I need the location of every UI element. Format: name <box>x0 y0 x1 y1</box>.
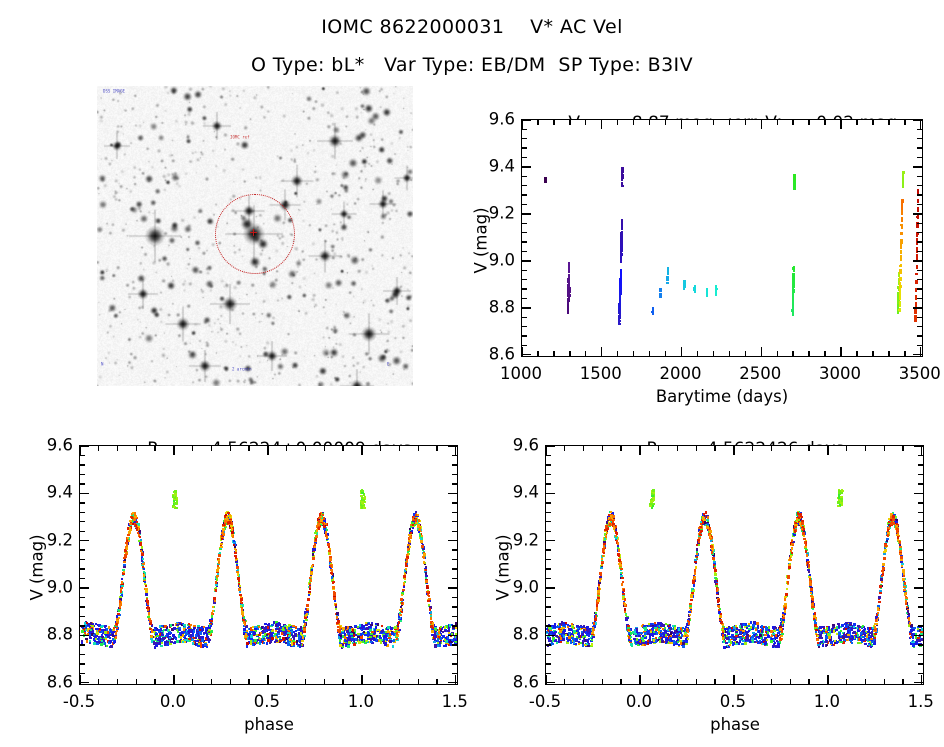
data-point <box>706 291 708 293</box>
data-point <box>182 641 184 643</box>
y-tick-right <box>452 502 457 503</box>
data-point <box>197 628 199 630</box>
data-point <box>179 632 181 634</box>
data-point <box>155 627 157 629</box>
data-point <box>546 631 548 633</box>
data-point <box>715 285 717 287</box>
x-tick-top <box>856 120 857 125</box>
data-point <box>336 622 338 624</box>
data-point <box>157 639 159 641</box>
data-point <box>750 621 752 623</box>
finder-annotation: DSS IMAGE <box>103 90 125 95</box>
x-tick-top <box>79 446 80 455</box>
data-point <box>439 634 441 636</box>
data-point <box>205 630 207 632</box>
x-tick-top <box>777 120 778 125</box>
y-tick-right <box>452 568 457 569</box>
data-point <box>430 617 432 619</box>
finder-annotation: N <box>101 363 103 368</box>
data-point <box>133 519 135 521</box>
data-point <box>231 528 233 530</box>
y-tick <box>522 260 531 261</box>
data-point <box>309 583 311 585</box>
phase-omc-xaxis-label: phase <box>244 715 294 734</box>
y-tick <box>522 213 531 214</box>
data-point <box>101 636 103 638</box>
target-crosshair-v <box>253 229 254 236</box>
x-tick <box>777 351 778 356</box>
data-point <box>120 590 122 592</box>
data-point <box>595 612 597 614</box>
data-point <box>900 239 902 241</box>
data-point <box>123 561 125 563</box>
data-point <box>207 638 209 640</box>
y-tick <box>522 223 527 224</box>
data-point <box>621 171 623 173</box>
x-axis-tick-label: 2000 <box>660 364 702 383</box>
data-point <box>387 630 389 632</box>
data-point <box>715 288 717 290</box>
y-tick <box>80 531 85 532</box>
x-tick <box>665 351 666 356</box>
data-point <box>170 624 172 626</box>
data-point <box>100 643 102 645</box>
data-point <box>406 560 408 562</box>
data-point <box>81 640 83 642</box>
data-point <box>638 635 640 637</box>
data-point <box>290 626 292 628</box>
y-tick <box>522 307 531 308</box>
data-point <box>221 535 223 537</box>
data-point <box>182 634 184 636</box>
data-point <box>427 600 429 602</box>
data-point <box>861 626 863 628</box>
data-point <box>147 603 149 605</box>
data-point <box>901 207 903 209</box>
data-point <box>365 640 367 642</box>
data-point <box>141 553 143 555</box>
data-point <box>714 573 716 575</box>
data-point <box>155 632 157 634</box>
phase-omc-yaxis-label: V (mag) <box>28 508 47 628</box>
y-tick-right <box>452 531 457 532</box>
data-point <box>445 644 447 646</box>
data-point <box>348 638 350 640</box>
data-point <box>917 210 919 212</box>
data-point <box>129 523 131 525</box>
y-tick <box>80 654 85 655</box>
data-point <box>793 184 795 186</box>
data-point <box>578 635 580 637</box>
data-point <box>106 645 108 647</box>
data-point <box>917 628 919 630</box>
data-point <box>271 637 273 639</box>
data-point <box>568 288 570 290</box>
data-point <box>147 606 149 608</box>
data-point <box>899 278 901 280</box>
data-point <box>396 634 398 636</box>
data-point <box>336 612 338 614</box>
data-point <box>292 640 294 642</box>
data-point <box>867 628 869 630</box>
data-point <box>215 581 217 583</box>
data-point <box>192 634 194 636</box>
data-point <box>620 256 622 258</box>
data-point <box>618 312 620 314</box>
data-point <box>357 636 359 638</box>
data-point <box>304 623 306 625</box>
data-point <box>449 624 451 626</box>
data-point <box>142 563 144 565</box>
data-point <box>361 501 363 503</box>
data-point <box>113 627 115 629</box>
y-tick <box>80 549 85 550</box>
data-point <box>793 275 795 277</box>
y-axis-tick-label: 8.6 <box>469 344 515 363</box>
data-point <box>399 609 401 611</box>
data-point <box>673 641 675 643</box>
data-point <box>314 543 316 545</box>
y-tick <box>522 279 527 280</box>
x-tick <box>380 679 381 684</box>
x-tick <box>537 351 538 356</box>
data-point <box>625 617 627 619</box>
data-point <box>109 640 111 642</box>
data-point <box>793 267 795 269</box>
y-tick <box>522 317 527 318</box>
data-point <box>296 640 298 642</box>
data-point <box>99 631 101 633</box>
y-tick <box>522 166 531 167</box>
data-point <box>361 639 363 641</box>
data-point <box>387 626 389 628</box>
data-point <box>567 626 569 628</box>
data-point <box>224 520 226 522</box>
data-point <box>272 629 274 631</box>
y-tick-right <box>913 354 922 355</box>
data-point <box>119 596 121 598</box>
y-tick <box>80 635 89 636</box>
x-tick <box>173 675 174 684</box>
data-point <box>917 207 919 209</box>
x-tick <box>617 351 618 356</box>
data-point <box>400 606 402 608</box>
data-point <box>216 578 218 580</box>
y-tick <box>80 483 85 484</box>
data-point <box>254 628 256 630</box>
data-point <box>389 640 391 642</box>
data-point <box>567 278 569 280</box>
data-point <box>400 599 402 601</box>
data-point <box>129 527 131 529</box>
data-point <box>174 641 176 643</box>
data-point <box>381 639 383 641</box>
data-point <box>231 534 233 536</box>
data-point <box>192 642 194 644</box>
data-point <box>337 626 339 628</box>
data-point <box>200 627 202 629</box>
data-point <box>568 268 570 270</box>
data-point <box>621 228 623 230</box>
data-point <box>621 231 623 233</box>
data-point <box>792 281 794 283</box>
data-point <box>85 638 87 640</box>
data-point <box>670 632 672 634</box>
data-point <box>147 609 149 611</box>
data-point <box>644 629 646 631</box>
data-point <box>250 635 252 637</box>
data-point <box>240 598 242 600</box>
y-tick-right <box>917 138 922 139</box>
data-point <box>434 644 436 646</box>
data-point <box>190 624 192 626</box>
data-point <box>791 309 793 311</box>
data-point <box>212 606 214 608</box>
y-tick <box>80 644 85 645</box>
y-tick-right <box>917 223 922 224</box>
data-point <box>259 638 261 640</box>
data-point <box>320 519 322 521</box>
data-point <box>915 273 917 275</box>
data-point <box>237 573 239 575</box>
data-point <box>660 633 662 635</box>
data-point <box>161 640 163 642</box>
data-point <box>437 638 439 640</box>
data-point <box>451 639 453 641</box>
x-tick <box>856 351 857 356</box>
data-point <box>376 635 378 637</box>
x-tick-top <box>380 446 381 451</box>
data-point <box>445 637 447 639</box>
data-point <box>213 597 215 599</box>
data-point <box>567 302 569 304</box>
y-tick <box>522 288 527 289</box>
data-point <box>552 637 554 639</box>
data-point <box>156 635 158 637</box>
data-point <box>287 643 289 645</box>
finder-annotation: 2 arcmin <box>232 368 252 373</box>
data-point <box>389 633 391 635</box>
data-point <box>423 553 425 555</box>
data-point <box>422 548 424 550</box>
data-point <box>326 536 328 538</box>
finder-annotation: IOMC ref <box>230 136 250 141</box>
data-point <box>98 624 100 626</box>
data-point <box>211 615 213 617</box>
data-point <box>244 635 246 637</box>
y-tick <box>522 326 527 327</box>
y-tick-right <box>917 185 922 186</box>
data-point <box>266 634 268 636</box>
data-point <box>173 506 175 508</box>
data-point <box>323 526 325 528</box>
lightcurve-frame <box>521 119 923 357</box>
data-point <box>264 623 266 625</box>
data-point <box>242 615 244 617</box>
data-point <box>312 557 314 559</box>
data-point <box>420 540 422 542</box>
phase-omc-frame <box>79 445 458 685</box>
y-tick-right <box>917 326 922 327</box>
data-point <box>307 608 309 610</box>
data-point <box>429 608 431 610</box>
data-point <box>448 627 450 629</box>
data-point <box>900 224 902 226</box>
data-point <box>375 623 377 625</box>
data-point <box>425 572 427 574</box>
data-point <box>568 282 570 284</box>
y-tick-right <box>452 559 457 560</box>
data-point <box>116 623 118 625</box>
data-point <box>452 626 454 628</box>
x-tick <box>211 679 212 684</box>
data-point <box>145 588 147 590</box>
data-point <box>86 622 88 624</box>
data-point <box>360 627 362 629</box>
data-point <box>621 167 623 169</box>
data-point <box>902 569 904 571</box>
y-tick-right <box>448 540 457 541</box>
data-point <box>176 507 178 509</box>
data-point <box>402 589 404 591</box>
data-point <box>361 507 363 509</box>
x-tick-top <box>553 120 554 125</box>
data-point <box>636 628 638 630</box>
data-point <box>792 298 794 300</box>
y-axis-tick-label: 9.4 <box>27 483 73 502</box>
data-point <box>307 598 309 600</box>
data-point <box>586 639 588 641</box>
data-point <box>901 218 903 220</box>
data-point <box>706 294 708 296</box>
data-point <box>555 639 557 641</box>
data-point <box>568 632 570 634</box>
data-point <box>148 613 150 615</box>
data-point <box>193 625 195 627</box>
data-point <box>899 303 901 305</box>
y-tick <box>80 597 85 598</box>
data-point <box>621 233 623 235</box>
y-tick <box>80 455 85 456</box>
data-point <box>567 307 569 309</box>
data-point <box>205 627 207 629</box>
data-point <box>238 588 240 590</box>
data-point <box>619 309 621 311</box>
data-point <box>672 635 674 637</box>
x-tick <box>761 347 762 356</box>
data-point <box>298 644 300 646</box>
data-point <box>172 495 174 497</box>
data-point <box>198 635 200 637</box>
data-point <box>310 572 312 574</box>
data-point <box>405 565 407 567</box>
data-point <box>621 185 623 187</box>
data-point <box>836 641 838 643</box>
data-point <box>412 518 414 520</box>
data-point <box>282 627 284 629</box>
data-point <box>257 642 259 644</box>
data-point <box>81 630 83 632</box>
data-point <box>568 264 570 266</box>
data-point <box>386 644 388 646</box>
data-point <box>900 255 902 257</box>
panel-phase-omc: POMC = 4.56224±0.00009 days -0.50.00.51.… <box>79 445 458 685</box>
x-tick-top <box>305 446 306 451</box>
y-tick-right <box>452 512 457 513</box>
data-point <box>705 511 707 513</box>
y-tick-right <box>448 587 457 588</box>
data-point <box>620 269 622 271</box>
data-point <box>121 581 123 583</box>
data-point <box>410 524 412 526</box>
y-tick-right <box>452 606 457 607</box>
data-point <box>302 636 304 638</box>
data-point <box>851 642 853 644</box>
data-point <box>683 284 685 286</box>
data-point <box>114 640 116 642</box>
data-point <box>160 645 162 647</box>
data-point <box>915 281 917 283</box>
y-tick <box>522 119 531 120</box>
y-tick <box>80 502 85 503</box>
y-tick <box>80 464 85 465</box>
data-point <box>341 632 343 634</box>
data-point <box>120 588 122 590</box>
y-tick-right <box>448 682 457 683</box>
y-tick <box>80 616 85 617</box>
data-point <box>921 638 923 640</box>
x-tick-top <box>230 446 231 451</box>
x-tick-top <box>761 120 762 129</box>
data-point <box>917 200 919 202</box>
x-axis-tick-label: 0.5 <box>254 692 280 711</box>
data-point <box>334 592 336 594</box>
data-point <box>662 624 664 626</box>
x-tick <box>136 679 137 684</box>
data-point <box>619 301 621 303</box>
data-point <box>413 524 415 526</box>
data-point <box>423 561 425 563</box>
data-point <box>694 290 696 292</box>
y-tick <box>80 474 85 475</box>
data-point <box>353 643 355 645</box>
x-tick-top <box>792 120 793 125</box>
data-point <box>368 626 370 628</box>
y-tick <box>80 493 89 494</box>
data-point <box>868 634 870 636</box>
data-point <box>620 247 622 249</box>
y-tick-right <box>452 616 457 617</box>
data-point <box>275 624 277 626</box>
data-point <box>620 276 622 278</box>
data-point <box>89 640 91 642</box>
x-tick-top <box>136 446 137 451</box>
data-point <box>427 594 429 596</box>
x-tick <box>98 679 99 684</box>
data-point <box>305 614 307 616</box>
data-point <box>206 633 208 635</box>
data-point <box>141 546 143 548</box>
data-point <box>404 578 406 580</box>
data-point <box>151 635 153 637</box>
data-point <box>433 641 435 643</box>
x-tick-top <box>436 446 437 451</box>
data-point <box>200 645 202 647</box>
y-axis-tick-label: 8.8 <box>27 625 73 644</box>
lightcurve-xaxis-label: Barytime (days) <box>656 387 788 406</box>
data-point <box>418 519 420 521</box>
data-point <box>228 521 230 523</box>
